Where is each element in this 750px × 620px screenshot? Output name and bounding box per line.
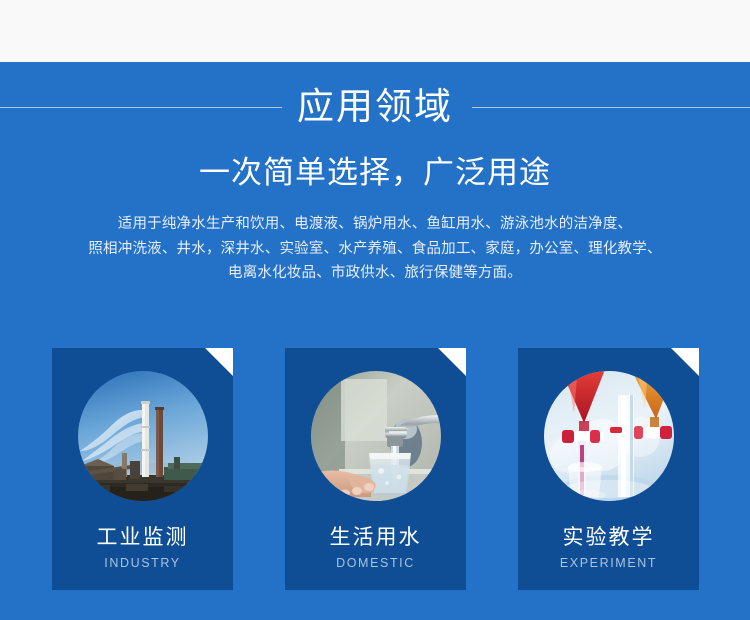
card-experiment[interactable]: 实验教学 EXPERIMENT (518, 348, 699, 590)
application-fields-section: 应用领域 一次简单选择，广泛用途 适用于纯净水生产和饮用、电渡液、锅炉用水、鱼缸… (0, 0, 750, 620)
card-domestic[interactable]: 生活用水 DOMESTIC (285, 348, 466, 590)
description-line-1: 适用于纯净水生产和饮用、电渡液、锅炉用水、鱼缸用水、游泳池水的洁净度、 (60, 212, 690, 237)
section-subtitle: 一次简单选择，广泛用途 (0, 152, 750, 194)
application-cards: 工业监测 INDUSTRY (0, 348, 750, 590)
section-title-row: 应用领域 (0, 78, 750, 136)
card-industry[interactable]: 工业监测 INDUSTRY (52, 348, 233, 590)
section-description: 适用于纯净水生产和饮用、电渡液、锅炉用水、鱼缸用水、游泳池水的洁净度、 照相冲洗… (60, 212, 690, 286)
corner-fold-icon (205, 348, 233, 376)
corner-fold-icon (671, 348, 699, 376)
card-domestic-cn-label: 生活用水 (285, 525, 466, 551)
faucet-filling-glass-photo (311, 371, 441, 501)
laboratory-glassware-photo (544, 371, 674, 501)
card-industry-cn-label: 工业监测 (52, 525, 233, 551)
top-white-strip (0, 0, 750, 62)
card-experiment-en-label: EXPERIMENT (518, 555, 699, 571)
description-line-2: 照相冲洗液、井水，深井水、实验室、水产养殖、食品加工、家庭，办公室、理化教学、 (60, 237, 690, 262)
card-experiment-cn-label: 实验教学 (518, 525, 699, 551)
industrial-plant-smokestacks-photo (78, 371, 208, 501)
description-line-3: 电离水化妆品、市政供水、旅行保健等方面。 (60, 261, 690, 286)
card-domestic-en-label: DOMESTIC (285, 555, 466, 571)
corner-fold-icon (438, 348, 466, 376)
card-industry-en-label: INDUSTRY (52, 555, 233, 571)
page-title: 应用领域 (0, 78, 750, 136)
